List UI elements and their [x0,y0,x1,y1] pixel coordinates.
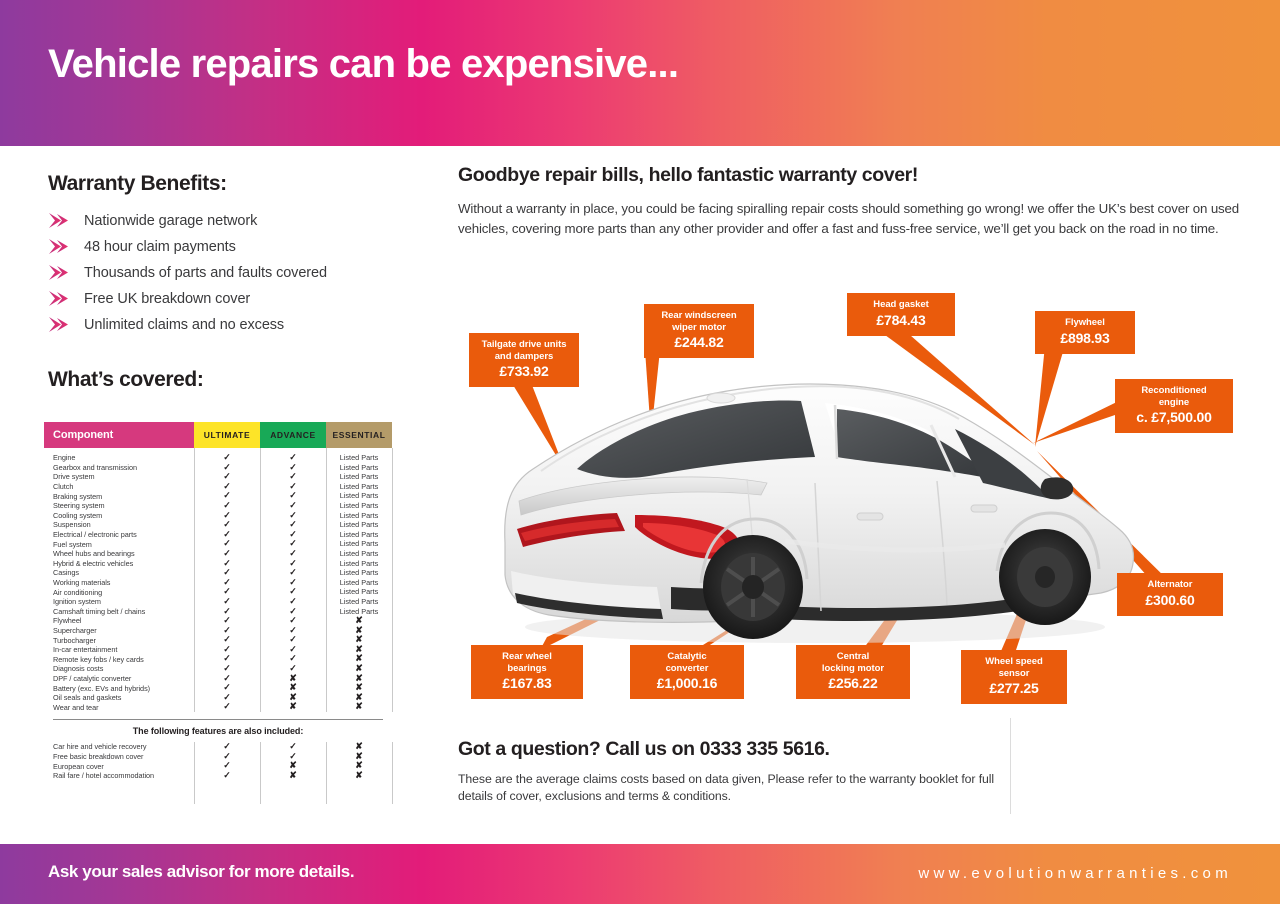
check-icon: ✓ [289,653,297,663]
check-icon: ✓ [223,701,231,711]
check-icon: ✓ [223,751,231,761]
extras-column-divider-1 [194,742,195,804]
check-icon: ✓ [289,606,297,616]
check-icon: ✓ [223,529,231,539]
check-icon: ✓ [223,596,231,606]
cell-component: Clutch [44,482,194,491]
listed-parts-label: Listed Parts [340,568,379,577]
benefits-list: Nationwide garage network48 hour claim p… [48,208,398,338]
callout-price: £277.25 [971,680,1057,697]
cell-component: Free basic breakdown cover [44,752,194,761]
callout-tailgate: Tailgate drive unitsand dampers £733.92 [469,333,579,387]
check-icon: ✓ [223,615,231,625]
column-divider-2 [260,448,261,712]
cell-component: Casings [44,568,194,577]
extras-column-divider-2 [260,742,261,804]
check-icon: ✓ [223,567,231,577]
check-icon: ✓ [223,548,231,558]
check-icon: ✓ [223,510,231,520]
table-row: Wheel hubs and bearings✓✓Listed Parts [44,549,392,559]
listed-parts-label: Listed Parts [340,587,379,596]
callout-price: £244.82 [654,334,744,351]
listed-parts-label: Listed Parts [340,549,379,558]
check-icon: ✓ [223,682,231,692]
check-icon: ✓ [223,606,231,616]
check-icon: ✓ [289,548,297,558]
left-column: Warranty Benefits: Nationwide garage net… [48,172,398,392]
check-icon: ✓ [223,741,231,751]
table-row: Drive system✓✓Listed Parts [44,472,392,482]
cta-title: Got a question? Call us on 0333 335 5616… [458,738,1018,761]
callout-label: Catalyticconverter [640,651,734,674]
listed-parts-label: Listed Parts [340,530,379,539]
table-row: European cover✓✘✘ [44,761,392,771]
table-row: Diagnosis costs✓✓✘ [44,664,392,674]
cell-component: Rail fare / hotel accommodation [44,771,194,780]
check-icon: ✓ [223,462,231,472]
check-icon: ✓ [223,481,231,491]
intro-block: Goodbye repair bills, hello fantastic wa… [458,164,1248,238]
cross-icon: ✘ [289,682,297,692]
cross-icon: ✘ [355,770,363,780]
table-row: Flywheel✓✓✘ [44,616,392,626]
cross-icon: ✘ [289,673,297,683]
cell-component: Battery (exc. EVs and hybrids) [44,684,194,693]
cell-essential: Listed Parts [326,559,392,569]
check-icon: ✓ [289,529,297,539]
check-icon: ✓ [223,760,231,770]
callout-price: £300.60 [1127,592,1213,609]
benefit-item: 48 hour claim payments [48,234,398,260]
callout-wiper: Rear windscreenwiper motor £244.82 [644,304,754,358]
callout-label: Rear wheelbearings [481,651,573,674]
cross-icon: ✘ [355,751,363,761]
cross-icon: ✘ [355,653,363,663]
chevron-right-icon [48,239,70,255]
cell-component: Supercharger [44,626,194,635]
cell-component: Engine [44,453,194,462]
table-header-row: Component ULTIMATE ADVANCE ESSENTIAL [44,422,392,448]
vehicle-diagram: Tailgate drive unitsand dampers £733.92 … [455,285,1255,715]
check-icon: ✓ [289,500,297,510]
table-row: Remote key fobs / key cards✓✓✘ [44,654,392,664]
table-body: Engine✓✓Listed PartsGearbox and transmis… [44,448,392,712]
cell-ultimate: ✓ [194,702,260,712]
table-row: Working materials✓✓Listed Parts [44,578,392,588]
callout-rear-bearings: Rear wheelbearings £167.83 [471,645,583,699]
benefits-title: Warranty Benefits: [48,172,398,196]
check-icon: ✓ [223,558,231,568]
table-row: Camshaft timing belt / chains✓✓Listed Pa… [44,607,392,617]
listed-parts-label: Listed Parts [340,559,379,568]
benefit-item: Thousands of parts and faults covered [48,260,398,286]
listed-parts-label: Listed Parts [340,501,379,510]
check-icon: ✓ [223,452,231,462]
table-row: Wear and tear✓✘✘ [44,702,392,712]
callout-label: Centrallocking motor [806,651,900,674]
footer-website[interactable]: www.evolutionwarranties.com [918,865,1232,882]
benefit-label: 48 hour claim payments [84,239,236,255]
benefit-item: Unlimited claims and no excess [48,312,398,338]
cell-essential: Listed Parts [326,472,392,482]
cell-component: In-car entertainment [44,645,194,654]
check-icon: ✓ [223,663,231,673]
car-illustration [485,365,1145,655]
table-row: Turbocharger✓✓✘ [44,635,392,645]
callout-central-locking: Centrallocking motor £256.22 [796,645,910,699]
cross-icon: ✘ [355,692,363,702]
cell-component: Hybrid & electric vehicles [44,559,194,568]
benefit-item: Free UK breakdown cover [48,286,398,312]
footer-banner: Ask your sales advisor for more details.… [0,844,1280,904]
check-icon: ✓ [289,625,297,635]
check-icon: ✓ [289,751,297,761]
header-banner: Vehicle repairs can be expensive... [0,0,1280,146]
check-icon: ✓ [289,615,297,625]
check-icon: ✓ [223,471,231,481]
cell-component: Steering system [44,501,194,510]
table-row: Battery (exc. EVs and hybrids)✓✘✘ [44,683,392,693]
callout-price: £733.92 [479,363,569,380]
chevron-right-icon [48,213,70,229]
cell-component: Ignition system [44,597,194,606]
check-icon: ✓ [223,577,231,587]
cross-icon: ✘ [355,634,363,644]
cell-essential: Listed Parts [326,463,392,473]
check-icon: ✓ [289,490,297,500]
table-row: Gearbox and transmission✓✓Listed Parts [44,463,392,473]
check-icon: ✓ [223,770,231,780]
listed-parts-label: Listed Parts [340,539,379,548]
table-row: DPF / catalytic converter✓✘✘ [44,674,392,684]
callout-flywheel: Flywheel £898.93 [1035,311,1135,354]
check-icon: ✓ [223,538,231,548]
cell-component: Wheel hubs and bearings [44,549,194,558]
callout-label: Rear windscreenwiper motor [654,310,744,333]
check-icon: ✓ [223,625,231,635]
cross-icon: ✘ [289,701,297,711]
cell-essential: Listed Parts [326,597,392,607]
table-row: Supercharger✓✓✘ [44,626,392,636]
check-icon: ✓ [289,462,297,472]
check-icon: ✓ [289,596,297,606]
table-row: Oil seals and gaskets✓✘✘ [44,693,392,703]
check-icon: ✓ [223,692,231,702]
check-icon: ✓ [289,577,297,587]
cross-icon: ✘ [355,760,363,770]
cta-vertical-rule [1010,718,1011,814]
cell-component: Turbocharger [44,636,194,645]
benefit-label: Nationwide garage network [84,213,257,229]
table-row: Engine✓✓Listed Parts [44,453,392,463]
benefit-label: Unlimited claims and no excess [84,317,284,333]
callout-alternator: Alternator £300.60 [1117,573,1223,616]
cell-component: Remote key fobs / key cards [44,655,194,664]
table-row: Free basic breakdown cover✓✓✘ [44,752,392,762]
covered-title: What’s covered: [48,368,398,392]
cell-component: DPF / catalytic converter [44,674,194,683]
cell-ultimate: ✓ [194,771,260,781]
cell-advance: ✘ [260,771,326,781]
callout-label: Alternator [1127,579,1213,591]
cell-component: Wear and tear [44,703,194,712]
check-icon: ✓ [289,452,297,462]
callout-wheel-speed: Wheel speedsensor £277.25 [961,650,1067,704]
check-icon: ✓ [223,653,231,663]
check-icon: ✓ [223,519,231,529]
cell-component: Camshaft timing belt / chains [44,607,194,616]
column-header-essential: ESSENTIAL [326,422,392,448]
cell-component: Oil seals and gaskets [44,693,194,702]
check-icon: ✓ [289,558,297,568]
column-header-advance: ADVANCE [260,422,326,448]
cross-icon: ✘ [355,701,363,711]
check-icon: ✓ [289,567,297,577]
table-row: Suspension✓✓Listed Parts [44,520,392,530]
cell-essential: ✘ [326,771,392,781]
listed-parts-label: Listed Parts [340,472,379,481]
cross-icon: ✘ [355,682,363,692]
callout-label: Wheel speedsensor [971,656,1057,679]
coverage-table: Component ULTIMATE ADVANCE ESSENTIAL Eng… [44,422,392,804]
cross-icon: ✘ [355,741,363,751]
cross-icon: ✘ [355,673,363,683]
table-row: Braking system✓✓Listed Parts [44,491,392,501]
table-row: Ignition system✓✓Listed Parts [44,597,392,607]
listed-parts-label: Listed Parts [340,578,379,587]
cell-component: Flywheel [44,616,194,625]
cross-icon: ✘ [355,615,363,625]
cell-essential: Listed Parts [326,530,392,540]
cell-essential: Listed Parts [326,549,392,559]
check-icon: ✓ [223,644,231,654]
cell-advance: ✘ [260,702,326,712]
check-icon: ✓ [223,490,231,500]
extras-column-divider-4 [392,742,393,804]
cell-essential: Listed Parts [326,453,392,463]
infographic-page: Vehicle repairs can be expensive... Warr… [0,0,1280,904]
table-row: Rail fare / hotel accommodation✓✘✘ [44,771,392,781]
cross-icon: ✘ [289,770,297,780]
cross-icon: ✘ [355,663,363,673]
check-icon: ✓ [289,663,297,673]
callout-catalytic: Catalyticconverter £1,000.16 [630,645,744,699]
cell-essential: Listed Parts [326,578,392,588]
cta-note: These are the average claims costs based… [458,771,1018,805]
check-icon: ✓ [289,481,297,491]
column-divider-4 [392,448,393,712]
callout-price: £898.93 [1045,330,1125,347]
check-icon: ✓ [289,471,297,481]
callout-price: c. £7,500.00 [1125,409,1223,426]
check-icon: ✓ [223,634,231,644]
cell-component: Braking system [44,492,194,501]
table-row: Car hire and vehicle recovery✓✓✘ [44,742,392,752]
extras-column-divider-3 [326,742,327,804]
chevron-right-icon [48,265,70,281]
cell-component: Car hire and vehicle recovery [44,742,194,751]
extras-heading: The following features are also included… [53,720,383,742]
listed-parts-label: Listed Parts [340,597,379,606]
callout-price: £167.83 [481,675,573,692]
check-icon: ✓ [223,586,231,596]
cell-component: Gearbox and transmission [44,463,194,472]
cell-component: Electrical / electronic parts [44,530,194,539]
page-title: Vehicle repairs can be expensive... [48,42,678,87]
cell-essential: Listed Parts [326,587,392,597]
callout-recon-engine: Reconditionedengine c. £7,500.00 [1115,379,1233,433]
cell-component: Fuel system [44,540,194,549]
cell-component: Suspension [44,520,194,529]
column-header-ultimate: ULTIMATE [194,422,260,448]
cell-component: Working materials [44,578,194,587]
listed-parts-label: Listed Parts [340,463,379,472]
table-row: Air conditioning✓✓Listed Parts [44,587,392,597]
table-row: Cooling system✓✓Listed Parts [44,511,392,521]
callout-price: £784.43 [857,312,945,329]
cell-essential: Listed Parts [326,511,392,521]
cell-component: Cooling system [44,511,194,520]
callout-price: £256.22 [806,675,900,692]
column-header-component: Component [44,422,194,448]
table-row: Steering system✓✓Listed Parts [44,501,392,511]
cell-essential: Listed Parts [326,482,392,492]
cell-essential: Listed Parts [326,501,392,511]
intro-body: Without a warranty in place, you could b… [458,199,1240,238]
callout-head-gasket: Head gasket £784.43 [847,293,955,336]
cross-icon: ✘ [289,760,297,770]
listed-parts-label: Listed Parts [340,491,379,500]
benefit-item: Nationwide garage network [48,208,398,234]
benefit-label: Thousands of parts and faults covered [84,265,327,281]
cross-icon: ✘ [355,625,363,635]
callout-label: Head gasket [857,299,945,311]
callout-label: Reconditionedengine [1125,385,1223,408]
cross-icon: ✘ [289,692,297,702]
benefit-label: Free UK breakdown cover [84,291,250,307]
chevron-right-icon [48,317,70,333]
cell-component: European cover [44,762,194,771]
check-icon: ✓ [289,741,297,751]
cell-essential: ✘ [326,702,392,712]
listed-parts-label: Listed Parts [340,511,379,520]
check-icon: ✓ [223,500,231,510]
column-divider-3 [326,448,327,712]
column-divider-1 [194,448,195,712]
check-icon: ✓ [289,510,297,520]
cell-essential: Listed Parts [326,568,392,578]
check-icon: ✓ [289,519,297,529]
table-row: Fuel system✓✓Listed Parts [44,539,392,549]
callout-label: Flywheel [1045,317,1125,329]
callout-label: Tailgate drive unitsand dampers [479,339,569,362]
listed-parts-label: Listed Parts [340,453,379,462]
check-icon: ✓ [289,538,297,548]
listed-parts-label: Listed Parts [340,520,379,529]
table-row: Electrical / electronic parts✓✓Listed Pa… [44,530,392,540]
cell-component: Diagnosis costs [44,664,194,673]
check-icon: ✓ [289,586,297,596]
check-icon: ✓ [223,673,231,683]
cell-component: Air conditioning [44,588,194,597]
check-icon: ✓ [289,634,297,644]
table-row: In-car entertainment✓✓✘ [44,645,392,655]
table-row: Casings✓✓Listed Parts [44,568,392,578]
cta-block: Got a question? Call us on 0333 335 5616… [458,738,1018,805]
callout-price: £1,000.16 [640,675,734,692]
check-icon: ✓ [289,644,297,654]
cell-essential: Listed Parts [326,491,392,501]
table-row: Clutch✓✓Listed Parts [44,482,392,492]
listed-parts-label: Listed Parts [340,482,379,491]
cell-essential: Listed Parts [326,520,392,530]
intro-title: Goodbye repair bills, hello fantastic wa… [458,164,1248,187]
table-extras-body: Car hire and vehicle recovery✓✓✘Free bas… [44,742,392,804]
table-row: Hybrid & electric vehicles✓✓Listed Parts [44,559,392,569]
footer-message: Ask your sales advisor for more details. [48,862,354,882]
cross-icon: ✘ [355,644,363,654]
cell-component: Drive system [44,472,194,481]
cell-essential: Listed Parts [326,539,392,549]
chevron-right-icon [48,291,70,307]
